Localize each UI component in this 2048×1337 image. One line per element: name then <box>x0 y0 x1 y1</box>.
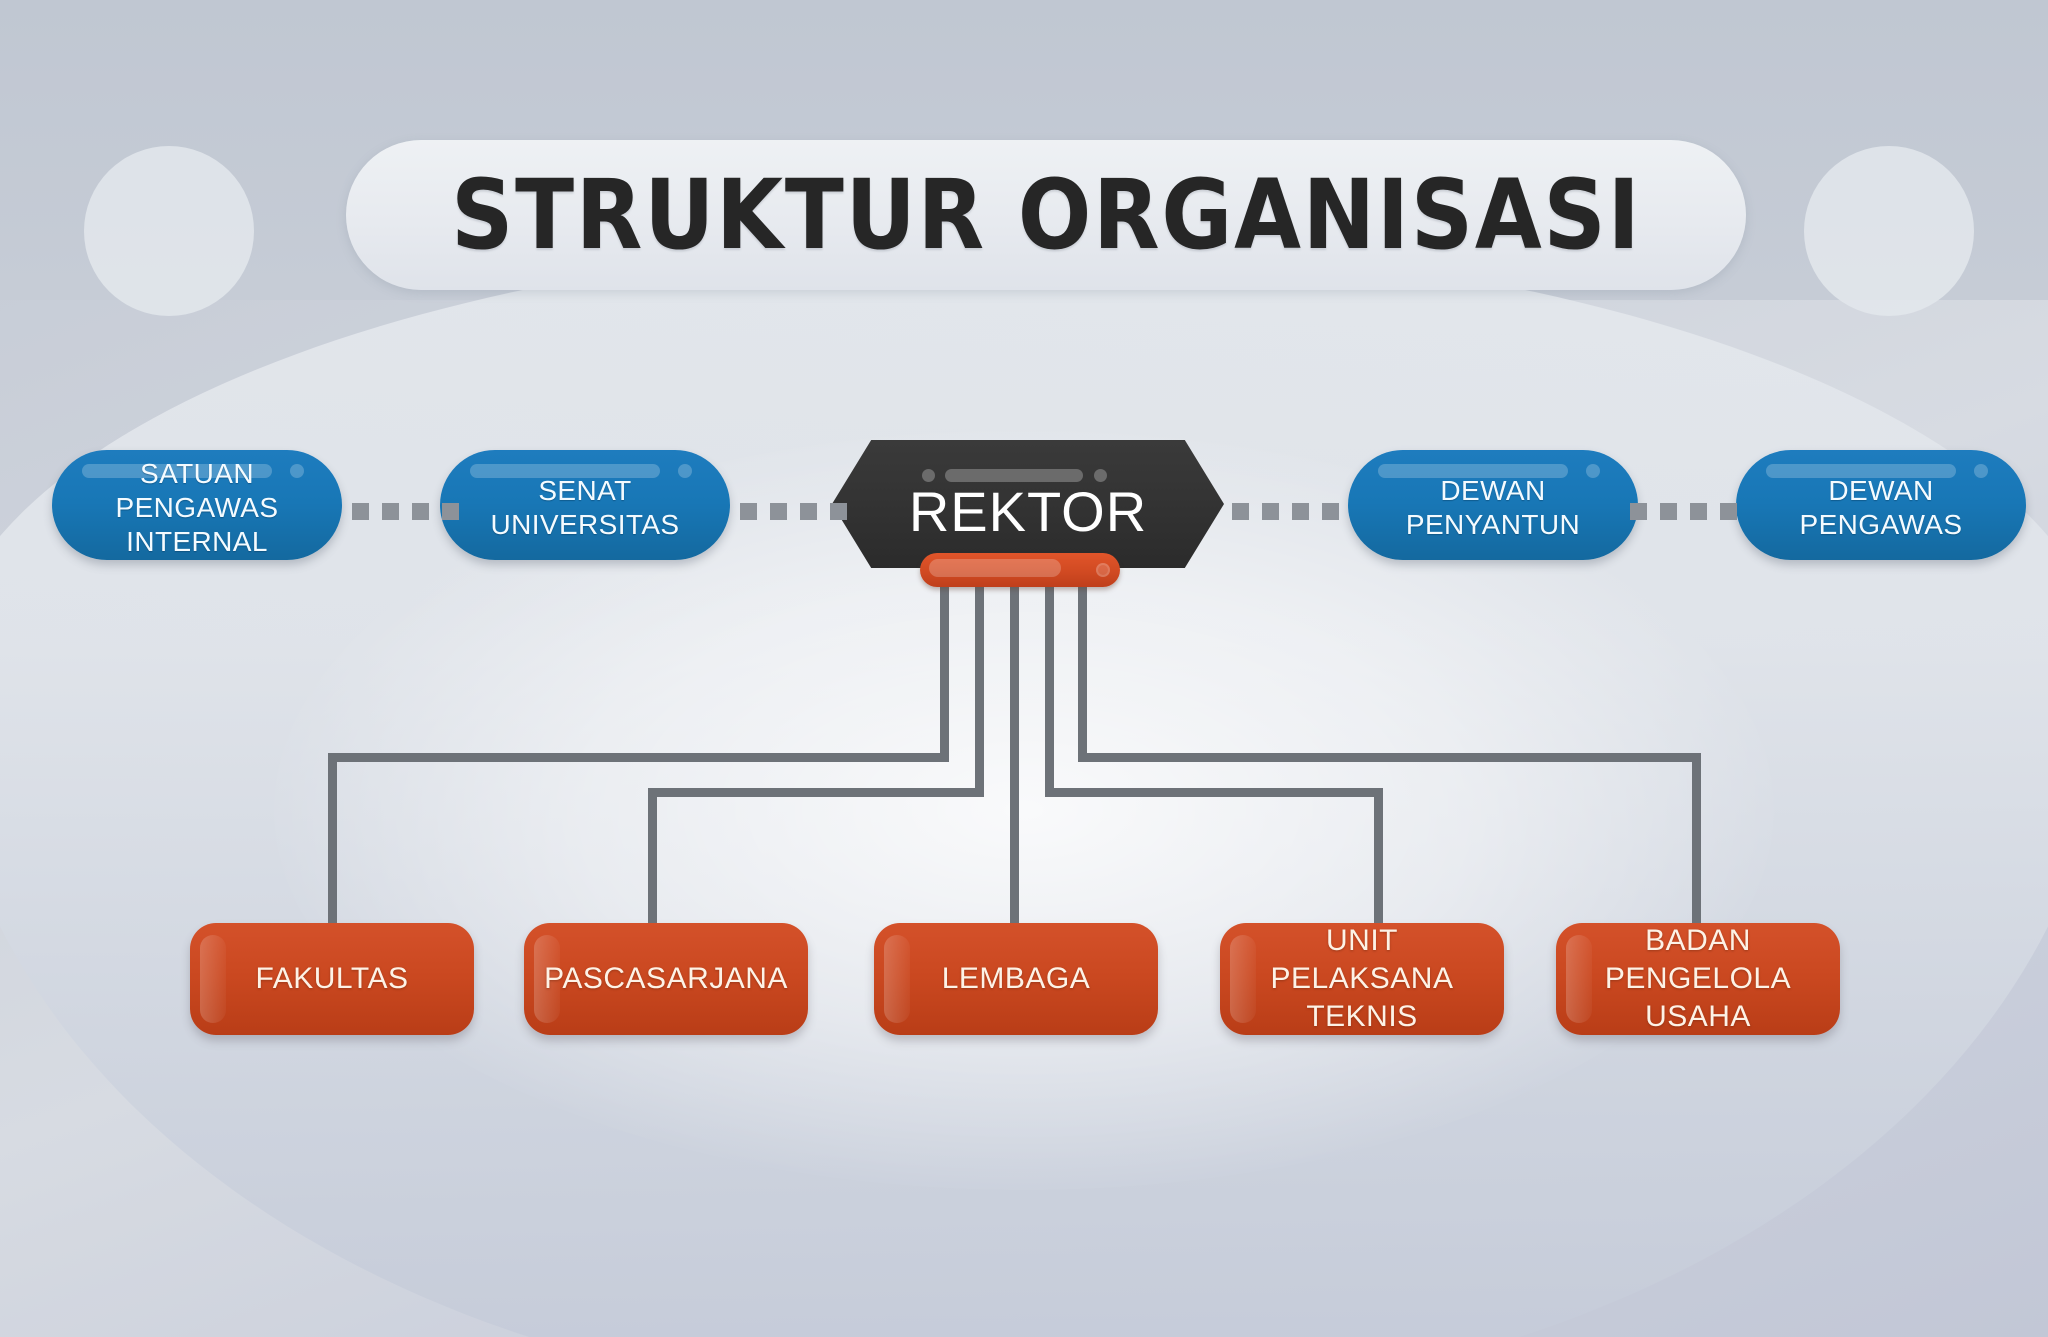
connector-stem-1 <box>940 580 949 762</box>
node-senat-universitas[interactable]: SENAT UNIVERSITAS <box>440 450 730 560</box>
node-label: PASCASARJANA <box>524 960 808 998</box>
connector-stem-5 <box>1078 580 1087 762</box>
node-label: LEMBAGA <box>920 960 1113 998</box>
dotted-segment <box>1720 503 1737 520</box>
node-label-line1: DEWAN <box>1828 475 1933 506</box>
connector-bus-left-outer <box>328 753 949 762</box>
node-dewan-penyantun[interactable]: DEWAN PENYANTUN <box>1348 450 1638 560</box>
rektor-connector-bar <box>920 553 1120 587</box>
connector-bus-left-inner <box>648 788 984 797</box>
rektor-highlight-dot-left <box>922 469 935 482</box>
node-highlight-strip <box>884 935 910 1023</box>
node-satuan-pengawas-internal[interactable]: SATUAN PENGAWAS INTERNAL <box>52 450 342 560</box>
node-label-line2: UNIVERSITAS <box>490 509 679 540</box>
node-label: DEWAN PENGAWAS <box>1784 474 1979 542</box>
dotted-segment <box>800 503 817 520</box>
decorative-circle-left <box>84 146 254 316</box>
connector-stem-3 <box>1010 580 1019 923</box>
connector-drop-fakultas <box>328 753 337 923</box>
dotted-segment <box>1322 503 1339 520</box>
rektor-bar-dot <box>1096 563 1110 577</box>
node-label: BADAN PENGELOLA USAHA <box>1556 923 1840 1035</box>
rektor-highlight-dot-right <box>1094 469 1107 482</box>
node-label-line1: DEWAN <box>1440 475 1545 506</box>
node-label-line1: LEMBAGA <box>942 962 1091 995</box>
node-rektor[interactable]: REKTOR <box>832 440 1224 568</box>
node-label-line1: BADAN PENGELOLA <box>1605 924 1791 995</box>
page-title: STRUKTUR ORGANISASI <box>451 159 1641 271</box>
node-lembaga[interactable]: LEMBAGA <box>874 923 1158 1035</box>
node-label-line1: SENAT <box>538 475 631 506</box>
decorative-circle-right <box>1804 146 1974 316</box>
node-label: SATUAN PENGAWAS INTERNAL <box>52 457 342 559</box>
dotted-segment <box>1232 503 1249 520</box>
node-label: UNIT PELAKSANA TEKNIS <box>1220 923 1504 1035</box>
background-curve-shape <box>0 240 2048 1337</box>
connector-drop-unit-pelaksana <box>1374 788 1383 923</box>
node-label-line2: INTERNAL <box>126 526 268 557</box>
dotted-segment <box>1292 503 1309 520</box>
node-label-line1: PASCASARJANA <box>544 962 788 995</box>
node-pascasarjana[interactable]: PASCASARJANA <box>524 923 808 1035</box>
node-label: REKTOR <box>909 479 1147 544</box>
node-highlight-strip <box>200 935 226 1023</box>
dotted-segment <box>352 503 369 520</box>
node-label: DEWAN PENYANTUN <box>1390 474 1596 542</box>
dotted-segment <box>770 503 787 520</box>
node-dewan-pengawas[interactable]: DEWAN PENGAWAS <box>1736 450 2026 560</box>
dotted-segment <box>442 503 459 520</box>
connector-drop-pascasarjana <box>648 788 657 923</box>
node-fakultas[interactable]: FAKULTAS <box>190 923 474 1035</box>
dotted-segment <box>382 503 399 520</box>
node-unit-pelaksana-teknis[interactable]: UNIT PELAKSANA TEKNIS <box>1220 923 1504 1035</box>
connector-bus-right-outer <box>1078 753 1701 762</box>
rektor-bar-highlight <box>929 559 1061 577</box>
dotted-segment <box>1262 503 1279 520</box>
rektor-highlight-bar <box>945 469 1083 482</box>
dotted-segment <box>740 503 757 520</box>
dotted-segment <box>830 503 847 520</box>
node-label: FAKULTAS <box>234 960 431 998</box>
node-label-line2: PENYANTUN <box>1406 509 1580 540</box>
node-label-line1: SATUAN PENGAWAS <box>116 458 279 523</box>
node-label-line2: PENGAWAS <box>1800 509 1963 540</box>
node-label: SENAT UNIVERSITAS <box>474 474 695 542</box>
connector-stem-4 <box>1045 580 1054 797</box>
node-label-line2: TEKNIS <box>1306 1000 1417 1033</box>
node-label-line2: USAHA <box>1645 1000 1751 1033</box>
dotted-segment <box>1690 503 1707 520</box>
node-label-line1: FAKULTAS <box>256 962 409 995</box>
dotted-segment <box>1630 503 1647 520</box>
title-banner: STRUKTUR ORGANISASI <box>346 140 1746 290</box>
dotted-segment <box>412 503 429 520</box>
node-label-line1: UNIT PELAKSANA <box>1271 924 1454 995</box>
node-badan-pengelola-usaha[interactable]: BADAN PENGELOLA USAHA <box>1556 923 1840 1035</box>
dotted-segment <box>1660 503 1677 520</box>
connector-bus-right-inner <box>1045 788 1383 797</box>
org-chart-canvas: STRUKTUR ORGANISASI SATUAN PENGAWAS INTE… <box>0 0 2048 1337</box>
connector-stem-2 <box>975 580 984 797</box>
connector-drop-badan-pengelola <box>1692 753 1701 923</box>
